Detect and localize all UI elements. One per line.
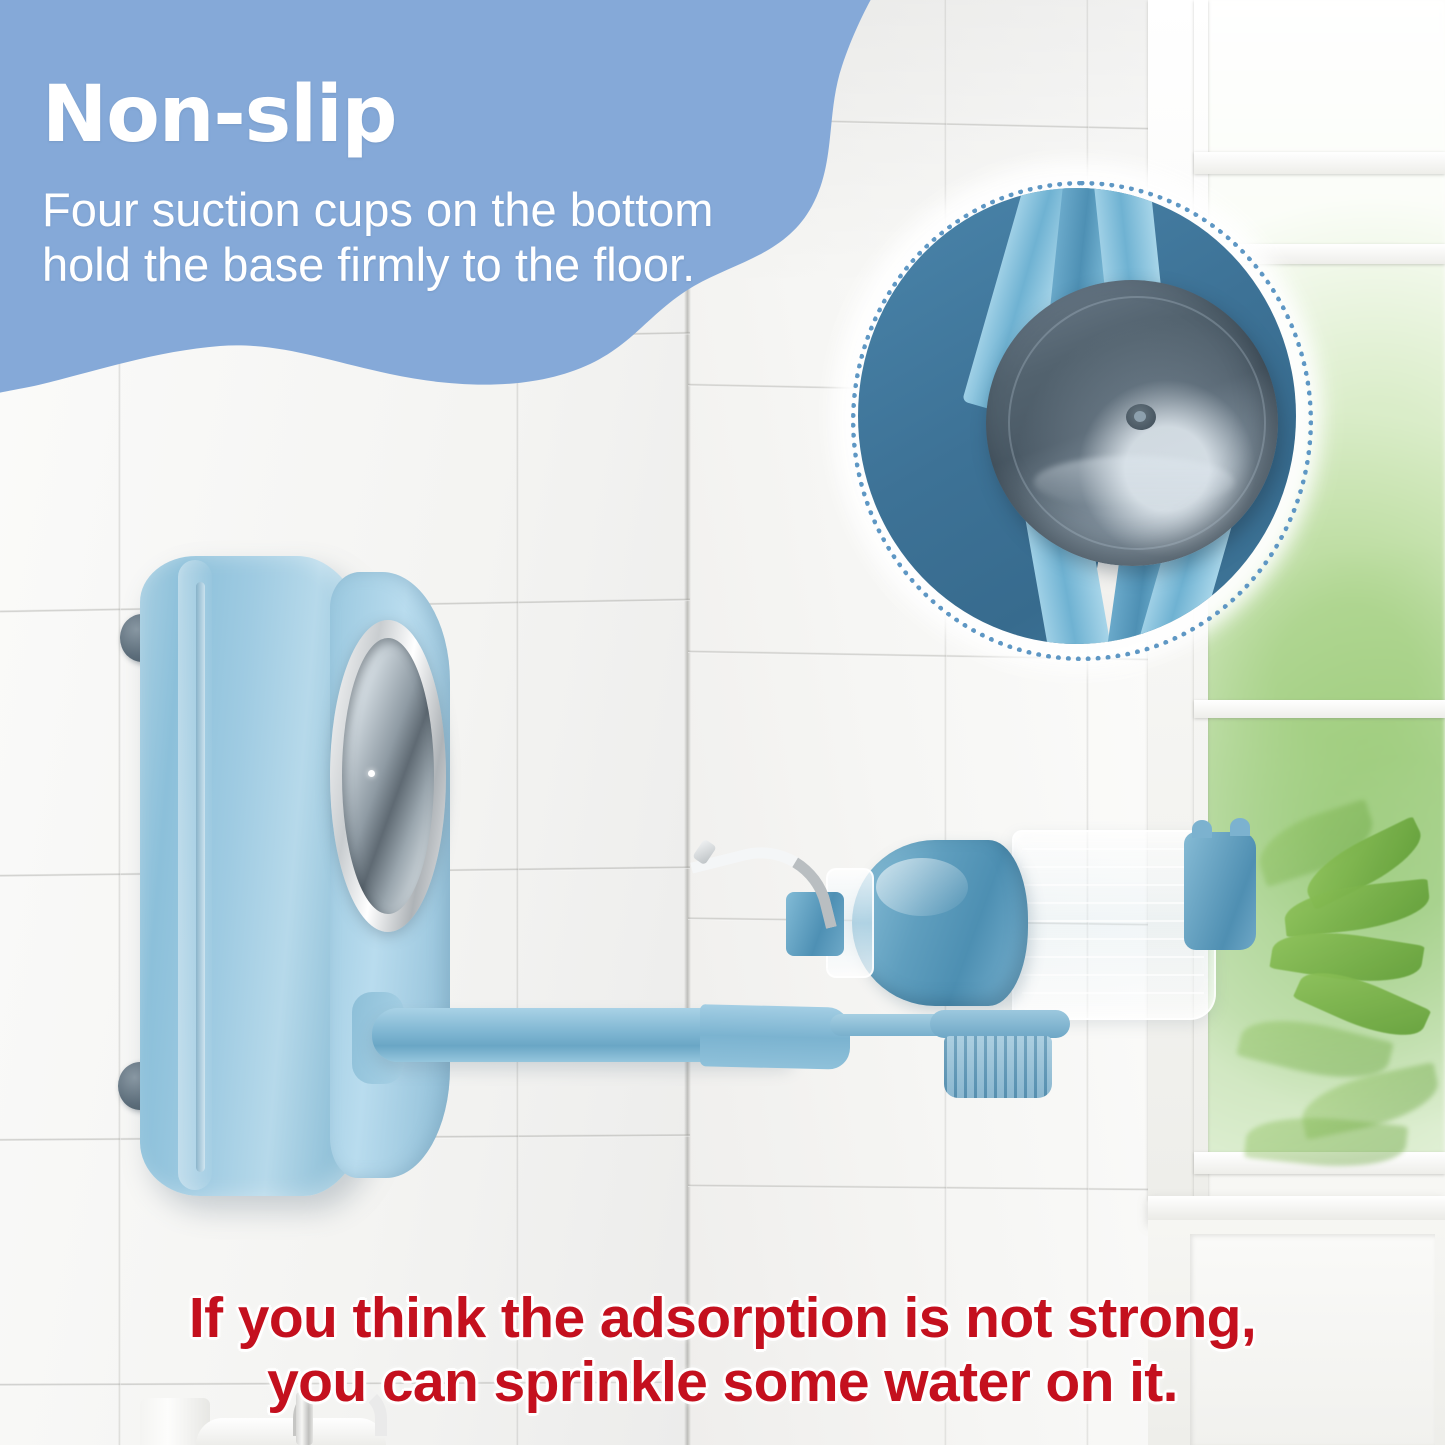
knurled-cap bbox=[944, 1036, 1052, 1098]
bottom-caption: If you think the adsorption is not stron… bbox=[0, 1286, 1445, 1415]
product-marketing-image: Non-slip Four suction cups on the bottom… bbox=[0, 0, 1445, 1445]
callout-headline: Non-slip bbox=[42, 78, 742, 152]
window-frame-rail bbox=[1194, 152, 1445, 174]
clip-ear bbox=[1230, 818, 1250, 836]
mounting-collar bbox=[930, 1010, 1070, 1038]
caption-line-1: If you think the adsorption is not stron… bbox=[0, 1286, 1445, 1350]
inset-dotted-border bbox=[851, 181, 1313, 661]
callout-body-text: Four suction cups on the bottom hold the… bbox=[42, 183, 767, 292]
cap-gloss-highlight bbox=[876, 858, 968, 916]
base-seam bbox=[196, 582, 205, 1172]
bottle-ribs bbox=[1022, 848, 1204, 998]
caption-line-2: you can sprinkle some water on it. bbox=[0, 1350, 1445, 1414]
suction-cup-closeup-inset bbox=[858, 188, 1296, 644]
window-frame-rail bbox=[1194, 700, 1445, 718]
specular-highlight bbox=[368, 770, 375, 777]
bottle-end-clip bbox=[1184, 832, 1256, 950]
base-highlight bbox=[178, 560, 212, 1190]
mirror-insert bbox=[342, 638, 434, 914]
support-arm-taper bbox=[700, 1004, 850, 1070]
clip-ear bbox=[1192, 820, 1212, 838]
window-sill bbox=[1148, 1196, 1445, 1222]
